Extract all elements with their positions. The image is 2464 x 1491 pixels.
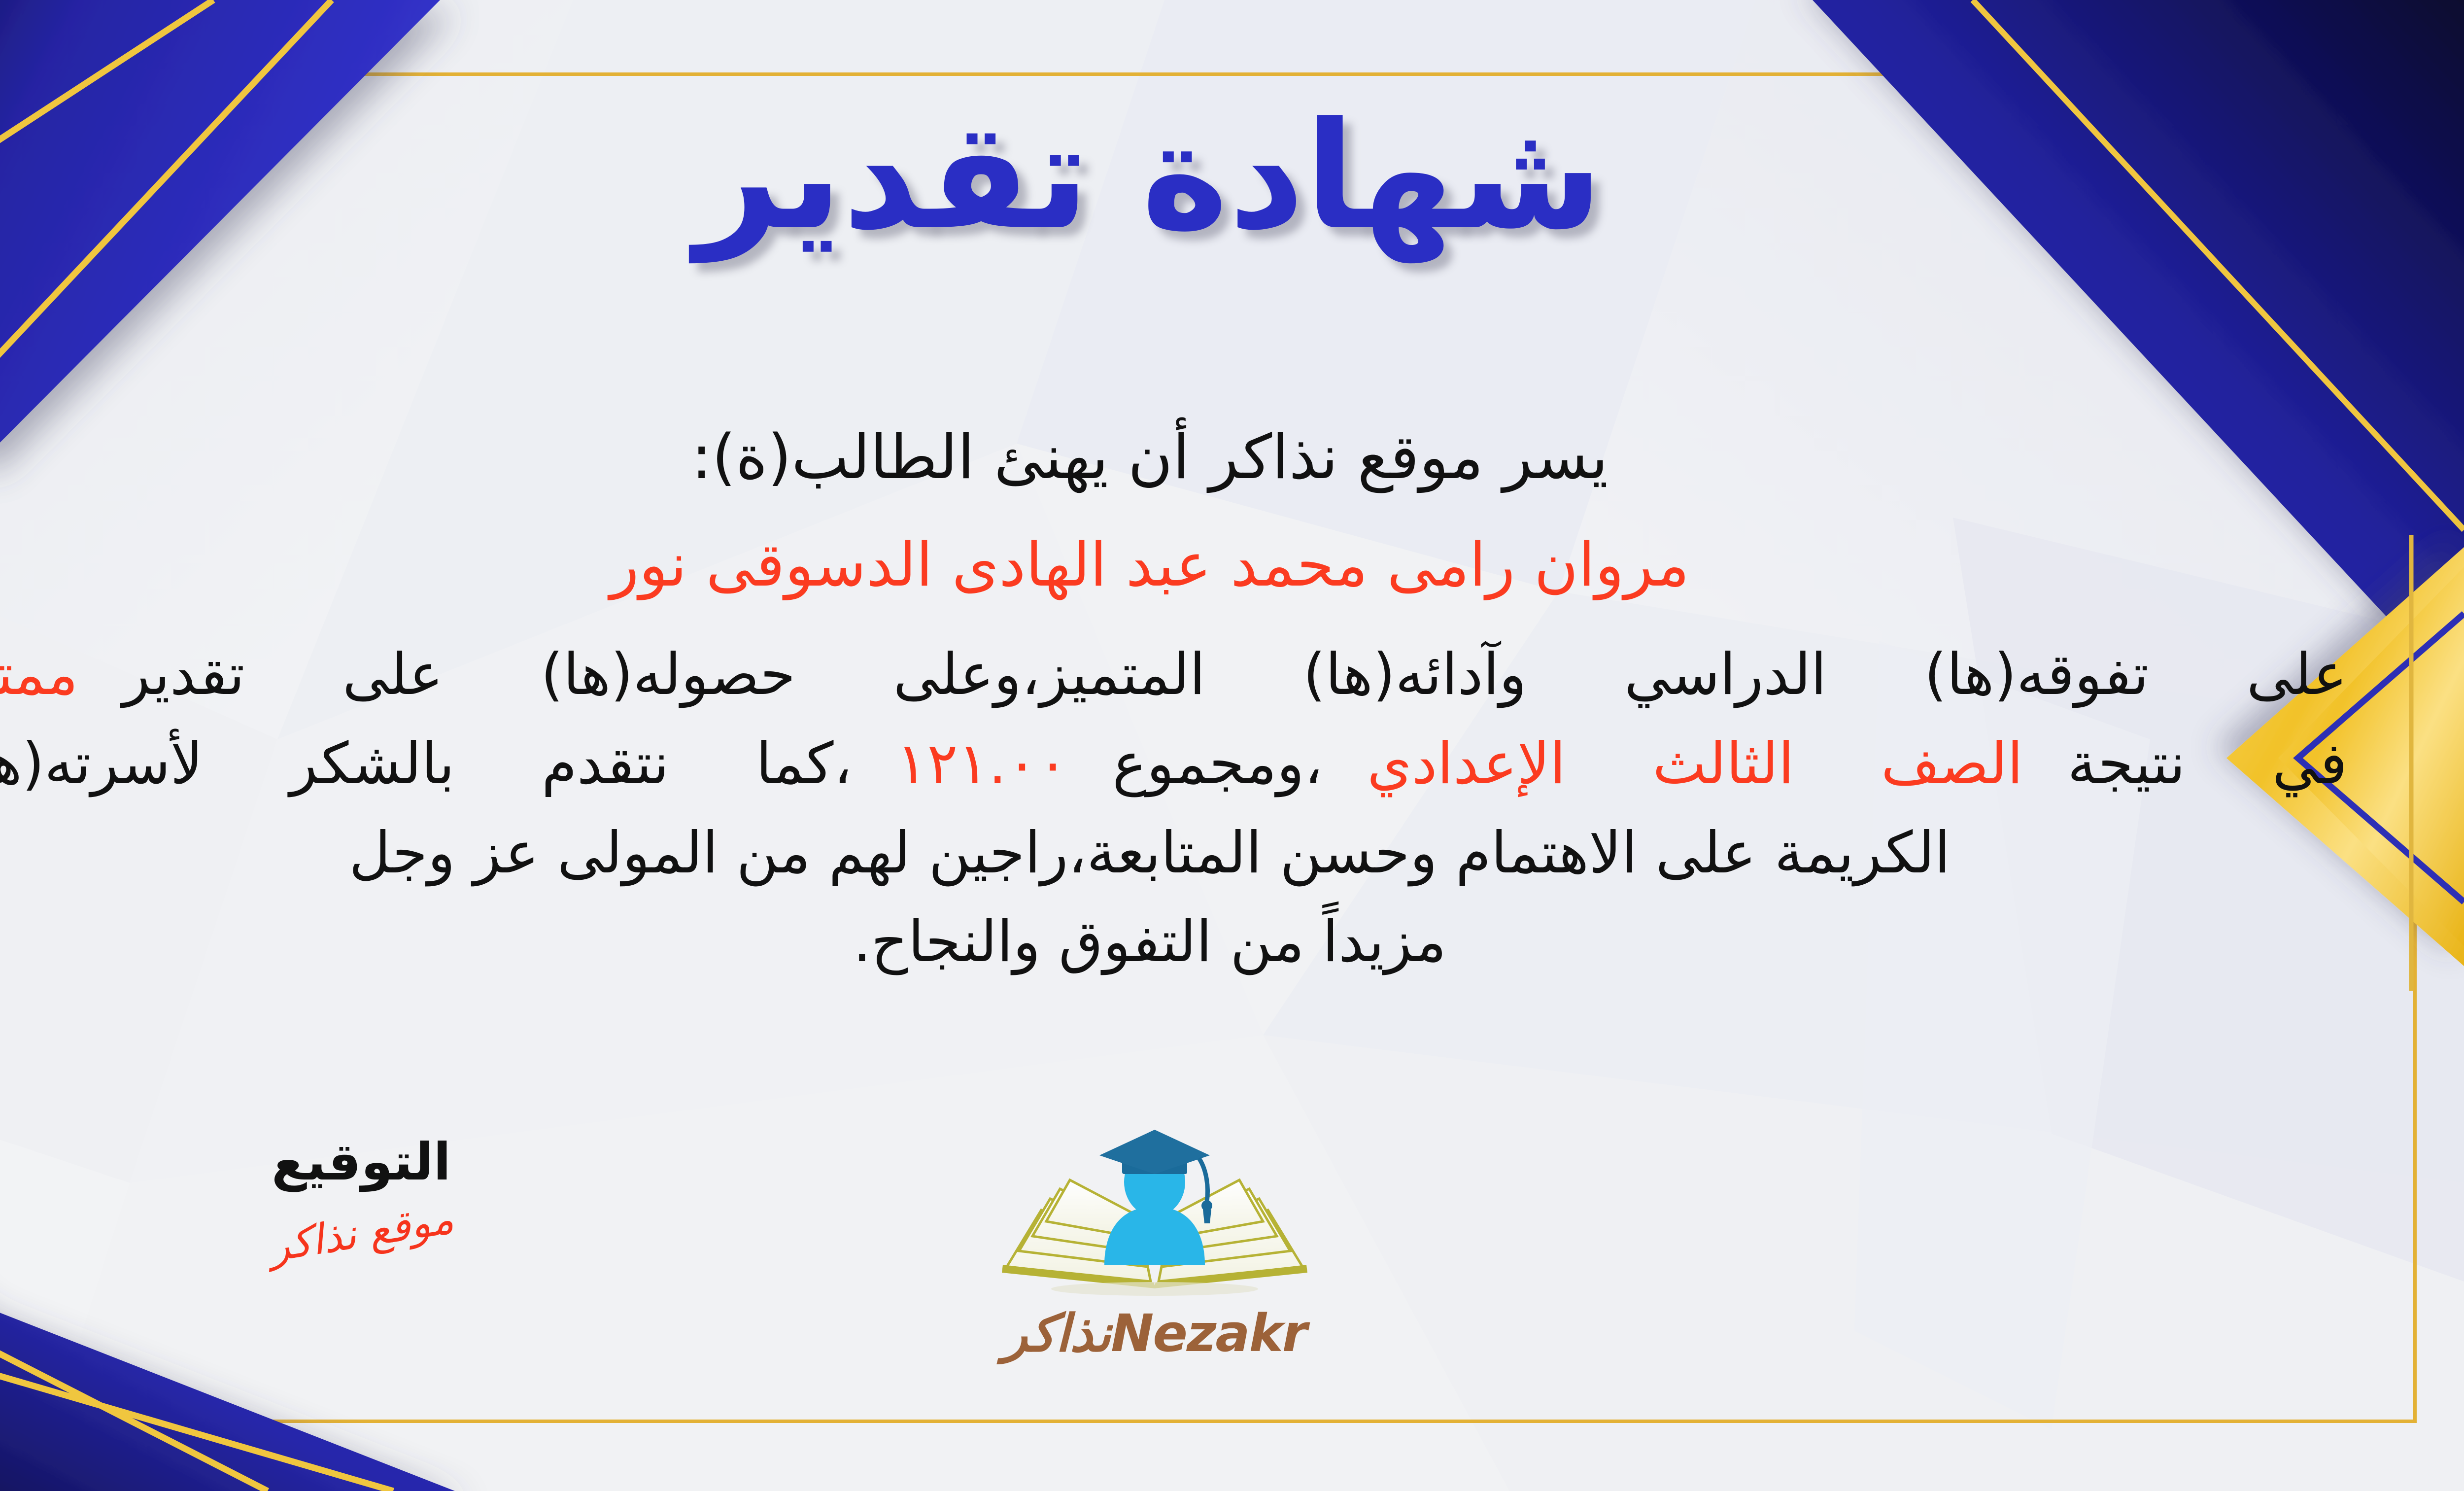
certificate-body: يسر موقع نذاكر أن يهنئ الطالب(ة): مروان …: [0, 414, 2347, 991]
family-thanks-line: الكريمة على الاهتمام وحسن المتابعة،راجين…: [0, 813, 2347, 894]
achievement-line: على تفوقه(ها) الدراسي وآدائه(ها) المتميز…: [0, 634, 2347, 716]
result-line: في نتيجةالصف الثالث الإعدادي،ومجموع١٢١.٠…: [0, 724, 2347, 805]
certificate-content: شهادة تقدير يسر موقع نذاكر أن يهنئ الطال…: [0, 0, 2464, 1491]
closing-wish-line: مزيداً من التفوق والنجاح.: [0, 902, 2347, 983]
signature-mark: موقع نذاكر: [206, 1185, 516, 1281]
result-prefix: في نتيجة: [2067, 730, 2347, 797]
brand-logo-block: Nezakrنذاكر: [967, 1119, 1342, 1363]
student-name: مروان رامى محمد عبد الهادى الدسوقى نور: [0, 522, 2347, 608]
graduate-on-open-book-logo-icon: [967, 1119, 1342, 1306]
brand-name: Nezakrنذاكر: [967, 1303, 1342, 1363]
congratulations-line: يسر موقع نذاكر أن يهنئ الطالب(ة):: [0, 414, 2347, 501]
signature-block: التوقيع موقع نذاكر: [208, 1134, 514, 1257]
thanks-family-text: ،كما نتقدم بالشكر لأسرته(ها): [0, 730, 852, 797]
grade-level-value: الصف الثالث الإعدادي: [1367, 730, 2023, 797]
total-score-value: ١٢١.٠٠: [896, 730, 1068, 797]
total-label: ،ومجموع: [1112, 730, 1323, 797]
signature-label: التوقيع: [208, 1134, 514, 1190]
achievement-text: على تفوقه(ها) الدراسي وآدائه(ها) المتميز…: [123, 641, 2347, 708]
certificate-card: شهادة تقدير يسر موقع نذاكر أن يهنئ الطال…: [0, 0, 2464, 1491]
grade-value: ممتاز: [0, 641, 78, 708]
page-title: شهادة تقدير: [0, 84, 2464, 269]
